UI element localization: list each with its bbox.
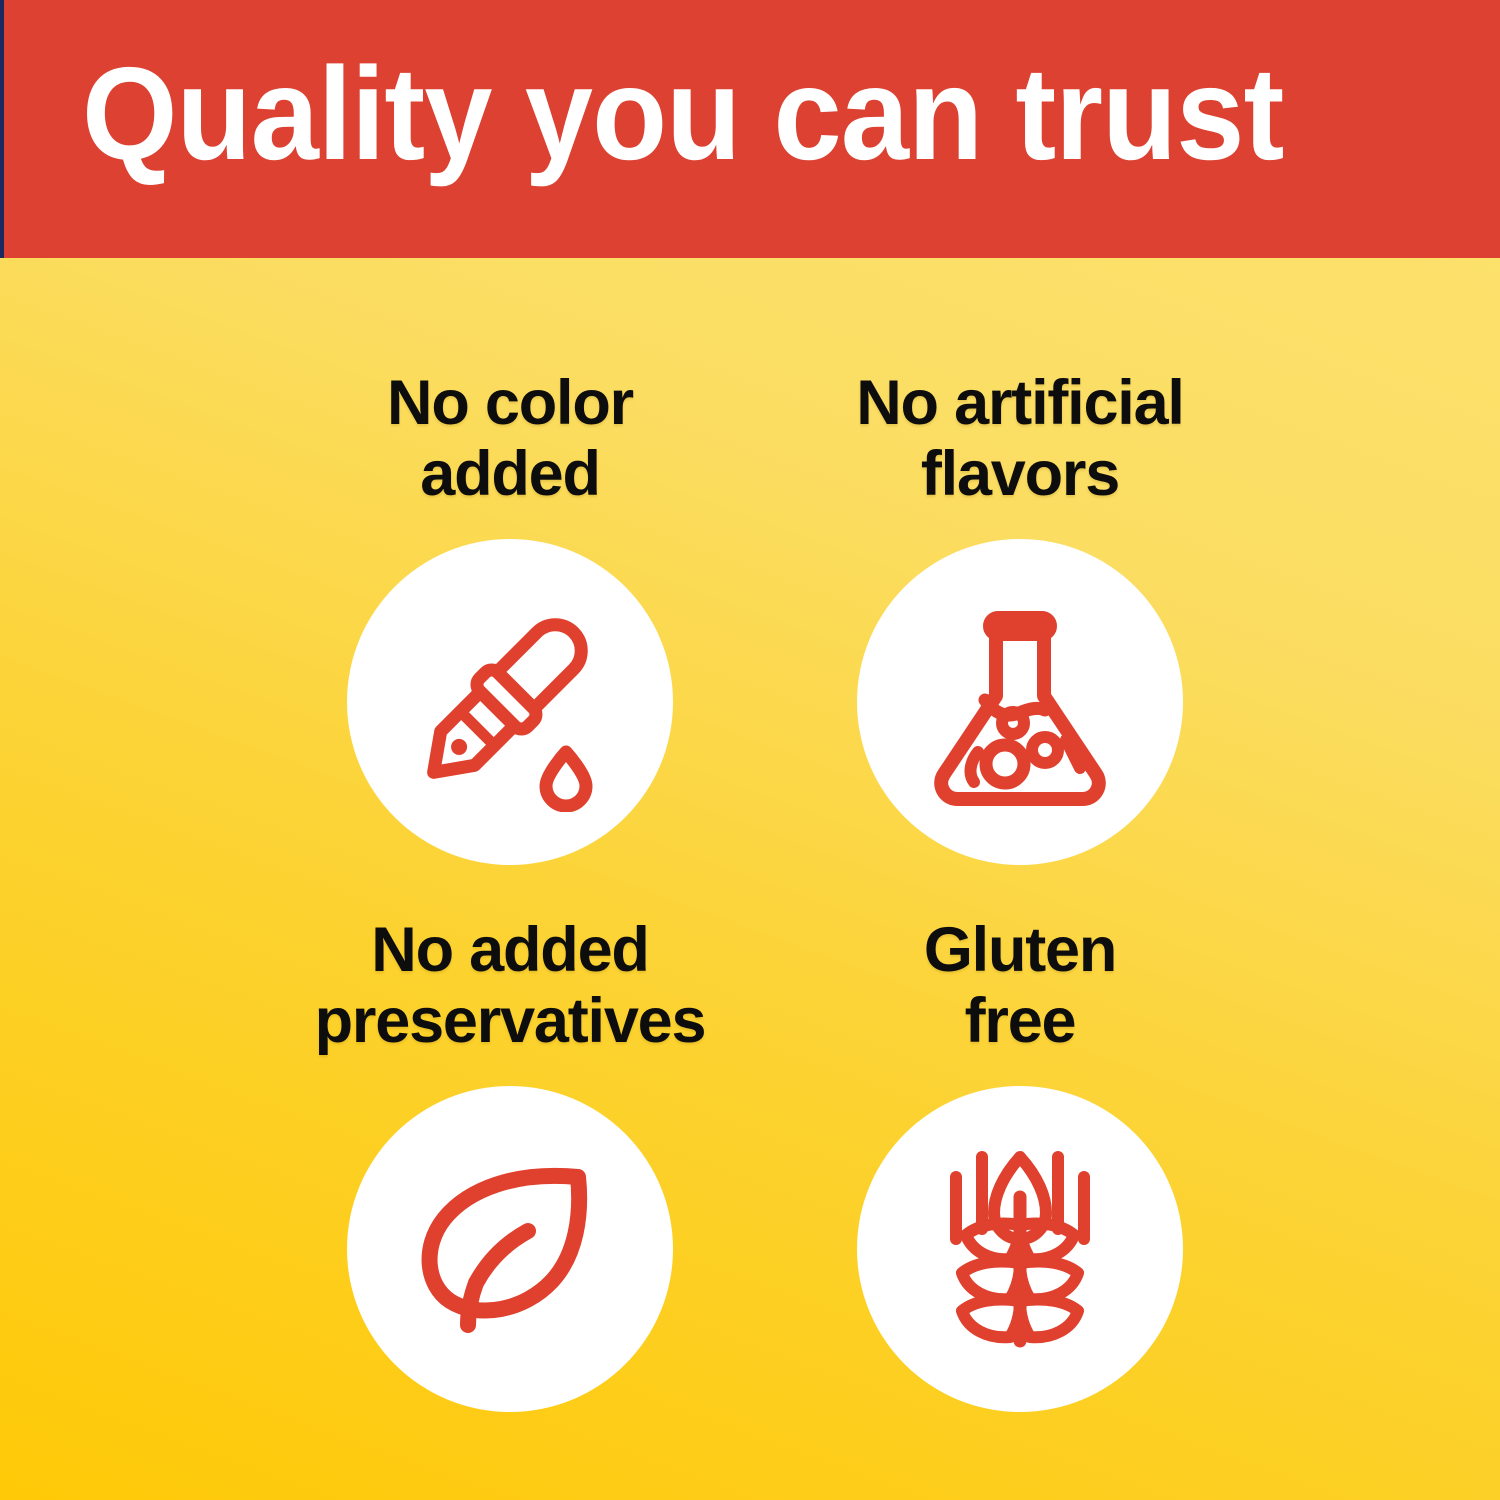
feature-cell-no-added-preservatives: No added preservatives <box>270 915 750 1412</box>
page-title: Quality you can trust <box>82 48 1375 180</box>
feature-grid: No color added <box>0 258 1500 1500</box>
leaf-icon <box>400 1139 620 1359</box>
feature-label-no-added-preservatives: No added preservatives <box>270 915 750 1056</box>
feature-label-line2: flavors <box>921 439 1119 509</box>
quality-badges-poster: Quality you can trust No color added <box>0 0 1500 1500</box>
feature-cell-gluten-free: Gluten free <box>780 915 1260 1412</box>
feature-disc-no-artificial-flavors <box>857 539 1183 865</box>
feature-disc-no-color-added <box>347 539 673 865</box>
feature-label-no-artificial-flavors: No artificial flavors <box>780 368 1260 509</box>
feature-cell-no-artificial-flavors: No artificial flavors <box>780 368 1260 865</box>
wheat-icon <box>910 1139 1130 1359</box>
feature-disc-gluten-free <box>857 1086 1183 1412</box>
feature-label-gluten-free: Gluten free <box>780 915 1260 1056</box>
flask-icon <box>910 592 1130 812</box>
feature-label-line2: added <box>420 439 600 509</box>
feature-label-no-color-added: No color added <box>270 368 750 509</box>
feature-label-line1: No color <box>387 368 633 438</box>
feature-disc-no-added-preservatives <box>347 1086 673 1412</box>
eyedropper-icon <box>400 592 620 812</box>
feature-label-line1: Gluten <box>924 915 1116 985</box>
feature-label-line2: preservatives <box>315 986 706 1056</box>
feature-label-line2: free <box>965 986 1076 1056</box>
header-edge-strip <box>0 0 4 258</box>
feature-label-line1: No added <box>371 915 648 985</box>
header-banner: Quality you can trust <box>0 0 1500 258</box>
feature-label-line1: No artificial <box>856 368 1184 438</box>
feature-cell-no-color-added: No color added <box>270 368 750 865</box>
